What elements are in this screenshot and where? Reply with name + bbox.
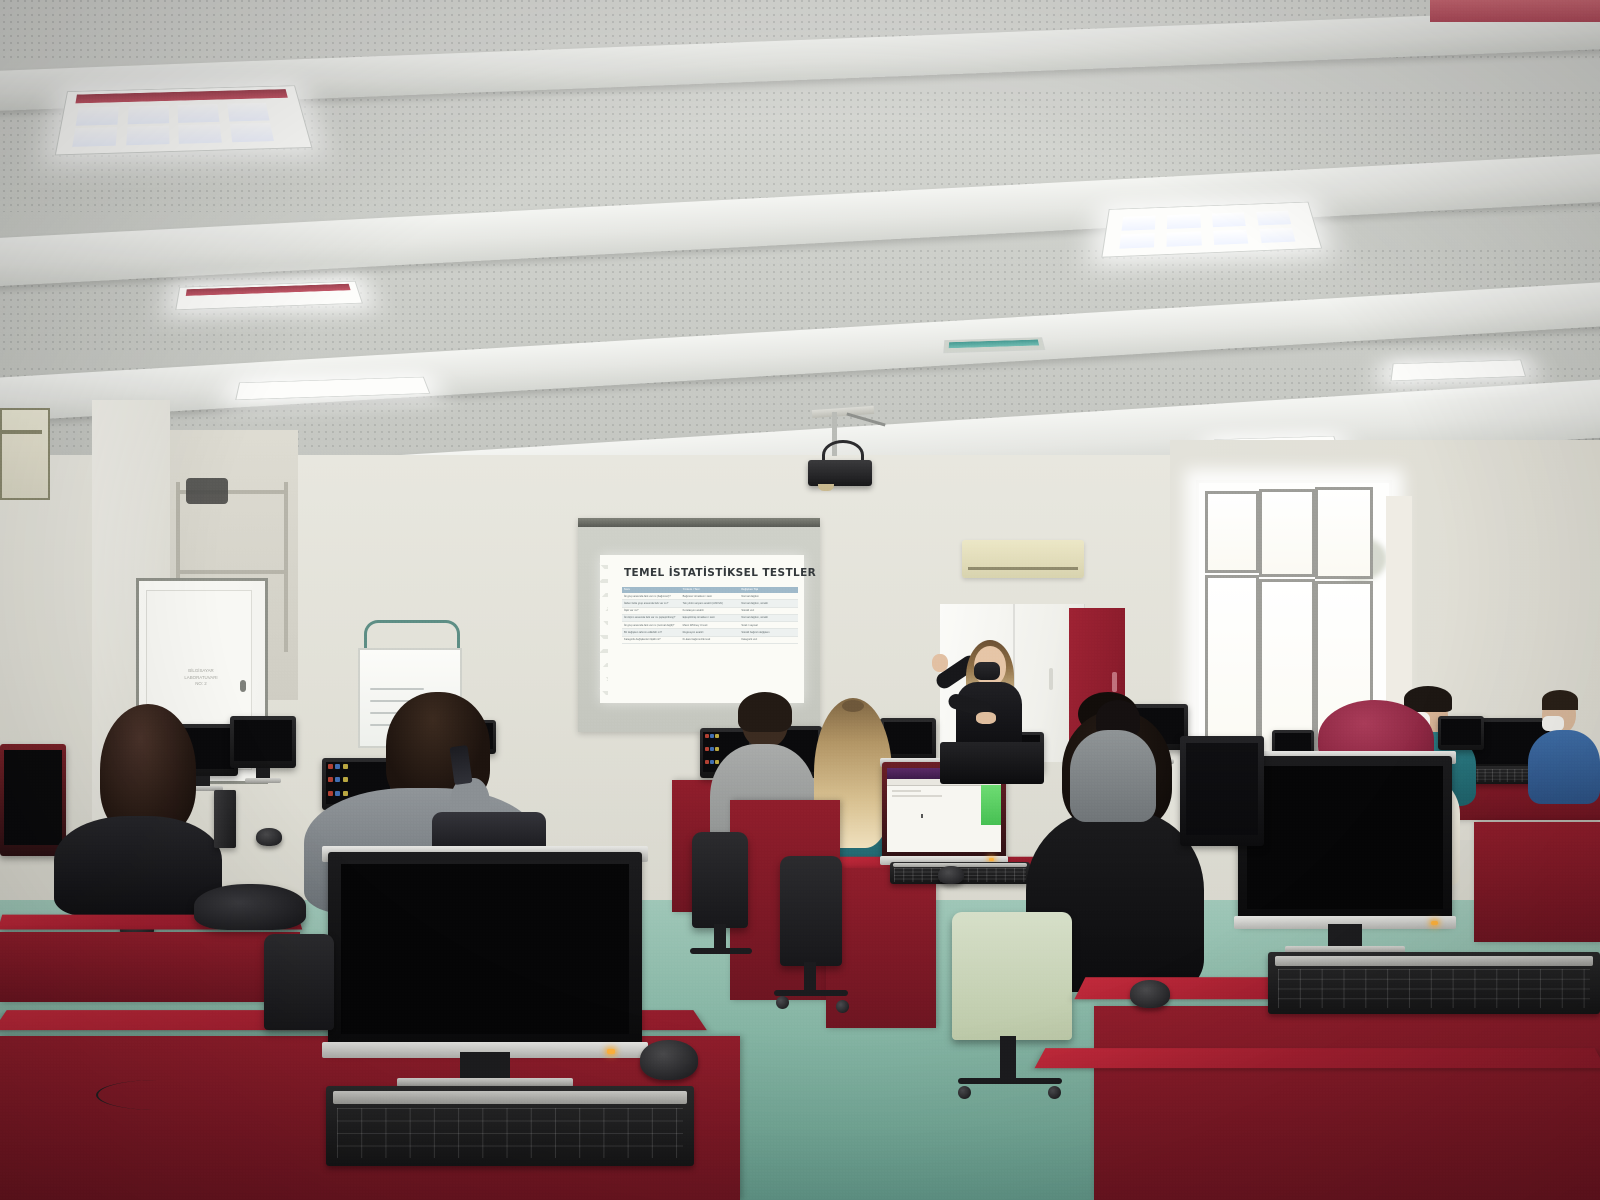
chair-caster — [836, 1000, 849, 1013]
monitor-stand — [1328, 924, 1362, 946]
keyboard-foreground-left[interactable] — [326, 1086, 694, 1166]
door-sign-line-1: BİLGİSAYAR — [170, 668, 232, 675]
door-sign-line-3: NO: 2 — [170, 681, 232, 688]
slide-table: Soru Yöntem / Test Değişken Tipi İki gru… — [622, 587, 798, 699]
slide-table-row: Bir değişken tahmin edilebilir mi?Regres… — [622, 629, 798, 636]
ceiling-light-1 — [55, 85, 313, 155]
slide-table-row: İki grup arasında fark var mı (bağımsız)… — [622, 593, 798, 600]
student-hair-tie — [842, 700, 864, 712]
air-conditioner — [962, 540, 1084, 578]
window-pane — [1315, 487, 1373, 579]
power-led — [989, 858, 994, 861]
student-torso — [1070, 730, 1156, 822]
small-window-mullion — [0, 430, 42, 434]
window-pane — [1205, 575, 1259, 763]
instructor-hand-2 — [976, 712, 996, 724]
monitor-12[interactable] — [1238, 756, 1452, 924]
window-pane — [1205, 491, 1259, 573]
projector — [808, 460, 872, 486]
monitor-11[interactable] — [1180, 736, 1264, 846]
podium-monitor[interactable] — [940, 742, 1044, 784]
door-handle[interactable] — [240, 680, 246, 692]
chair-base — [774, 990, 848, 996]
mouse-foreground-left[interactable] — [640, 1040, 698, 1080]
wall-speaker — [186, 478, 228, 504]
presentation-slide: TEMEL İSTATİSTİKSEL TESTLER Soru Yöntem … — [600, 555, 804, 703]
chair-mid-aisle-2[interactable] — [780, 856, 842, 966]
chair-left-aisle[interactable] — [264, 934, 334, 1030]
slide-table-row: İkiden fazla grup arasında fark var mı?T… — [622, 600, 798, 607]
student-grey-back — [1070, 700, 1156, 820]
slide-table-row: İki ölçüm arasında fark var mı (eşleştir… — [622, 614, 798, 621]
student-hair — [738, 692, 792, 732]
classroom-photo: TEMEL İSTATİSTİKSEL TESTLER Soru Yöntem … — [0, 0, 1600, 1200]
chair-base — [958, 1078, 1062, 1084]
slide-table-row: İlişki var mı?Korelasyon analiziSürekli … — [622, 607, 798, 614]
door-sign-line-2: LABORATUVARI — [170, 675, 232, 682]
power-led — [1431, 921, 1438, 925]
student-torso — [1528, 730, 1600, 804]
mouse-left-2[interactable] — [256, 828, 282, 846]
cabinet-handle[interactable] — [1112, 672, 1117, 692]
ceiling-light-4 — [1101, 202, 1322, 258]
desktop-tower[interactable] — [214, 790, 236, 848]
monitor-stand — [460, 1052, 510, 1078]
desk-panel-right — [1474, 822, 1600, 942]
chair-mid-aisle-1[interactable] — [692, 832, 748, 928]
chair-caster — [1048, 1086, 1061, 1099]
chair-caster — [776, 996, 789, 1009]
headset[interactable] — [194, 884, 306, 930]
window-pane — [1259, 489, 1315, 577]
app-side-panel — [981, 785, 1002, 825]
instructor-hand — [932, 654, 948, 672]
chair-middle-right[interactable] — [952, 912, 1072, 1040]
student-hair — [1542, 690, 1578, 710]
desk-panel-foreground-right — [1094, 1006, 1600, 1200]
mouse-middle[interactable] — [938, 866, 964, 884]
desk-panel — [0, 932, 300, 1002]
slide-table-row: Kategorik değişkenler ilişkili mi?Ki-kar… — [622, 636, 798, 643]
slide-table-row: İki grup arasında fark var mı (normal de… — [622, 622, 798, 629]
door-sign: BİLGİSAYAR LABORATUVARI NO: 2 — [170, 668, 232, 688]
monitor-3[interactable] — [230, 716, 296, 768]
desk-center-foreground — [1040, 1038, 1600, 1078]
ceiling-light-7 — [1430, 0, 1600, 22]
slide-title: TEMEL İSTATİSTİKSEL TESTLER — [624, 567, 798, 579]
mouse-foreground-right[interactable] — [1130, 980, 1170, 1008]
monitor-6[interactable] — [1438, 716, 1484, 750]
face-mask — [974, 662, 1000, 680]
chair-post — [1000, 1036, 1016, 1080]
small-window — [0, 408, 50, 500]
student-leather-jacket — [54, 704, 224, 914]
cable — [96, 1080, 218, 1110]
keyboard-foreground-right[interactable] — [1268, 952, 1600, 1014]
student-blue-shirt — [1518, 694, 1600, 804]
monitor-13[interactable] — [328, 852, 642, 1052]
chair-base — [690, 948, 752, 954]
chair-caster — [958, 1086, 971, 1099]
cabinet-handle[interactable] — [1049, 668, 1053, 690]
face-mask — [1542, 716, 1564, 731]
power-led — [607, 1049, 615, 1054]
projection-screen-roller — [578, 518, 820, 527]
instructor — [932, 640, 1042, 752]
